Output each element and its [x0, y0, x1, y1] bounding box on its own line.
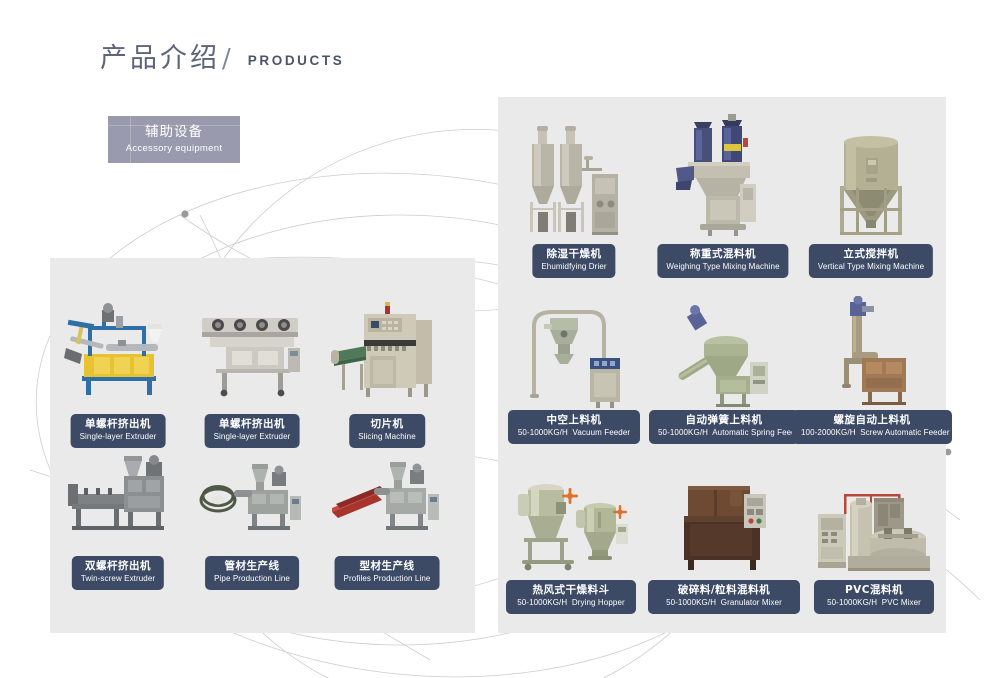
product-name-cn: 单螺杆挤出机: [214, 418, 291, 431]
product-name-en: Vertical Type Mixing Machine: [818, 262, 924, 272]
product-label[interactable]: 热风式干燥料斗 50-1000KG/H Drying Hopper: [506, 580, 636, 614]
product-single-layer-extruder-1[interactable]: 单螺杆挤出机 Single-layer Extruder: [62, 296, 174, 446]
product-label[interactable]: 管材生产线 Pipe Production Line: [205, 556, 299, 590]
product-label[interactable]: 中空上料机 50-1000KG/H Vacuum Feeder: [508, 410, 640, 444]
product-name-en: 50-1000KG/H Granulator Mixer: [657, 598, 791, 608]
title-separator: /: [222, 44, 231, 74]
category-tag-accessory-equipment: 辅助设备 Accessory equipment: [108, 116, 240, 163]
product-name-en: Pipe Production Line: [214, 574, 290, 584]
product-name-en-text: Vacuum Feeder: [573, 428, 631, 437]
product-profiles-production-line[interactable]: 型材生产线 Profiles Production Line: [330, 438, 444, 588]
product-dehumidifying-drier[interactable]: 除湿干燥机 Ehumidfying Drier: [520, 122, 628, 272]
product-label[interactable]: 型材生产线 Profiles Production Line: [335, 556, 440, 590]
product-label[interactable]: 破碎料/粒料混料机 50-1000KG/H Granulator Mixer: [648, 580, 800, 614]
red-profiles-production-line-image: [330, 438, 444, 546]
product-pipe-production-line[interactable]: 管材生产线 Pipe Production Line: [196, 438, 308, 588]
twin-hopper-dehumidifying-drier-with-cabinet-image: [520, 122, 628, 240]
product-label[interactable]: 除湿干燥机 Ehumidfying Drier: [532, 244, 615, 278]
product-name-cn: 中空上料机: [517, 414, 631, 427]
product-name-en-text: Automatic Spring Feeder: [712, 428, 803, 437]
product-name-en: Ehumidfying Drier: [541, 262, 606, 272]
page-header: 产品介绍 / PRODUCTS: [100, 44, 344, 74]
product-name-en: Weighing Type Mixing Machine: [666, 262, 779, 272]
product-name-en: Twin-screw Extruder: [81, 574, 155, 584]
automatic-spring-feeder-inclined-tube-image: [668, 300, 780, 410]
product-name-en-text: PVC Mixer: [882, 598, 921, 607]
product-name-cn: PVC混料机: [823, 584, 925, 597]
page-title-cn: 产品介绍: [100, 45, 220, 72]
product-name-cn: 热风式干燥料斗: [515, 584, 627, 597]
blue-yellow-single-screw-extruder-line-image: [62, 296, 174, 404]
vacuum-feeder-with-control-cabinet-image: [518, 300, 630, 410]
product-slicing-machine[interactable]: 切片机 Slicing Machine: [330, 296, 444, 446]
product-capacity: 50-1000KG/H: [658, 428, 708, 437]
beige-slicing-machine-with-green-conveyor-image: [330, 296, 444, 404]
product-name-en-text: Granulator Mixer: [721, 598, 782, 607]
product-screw-automatic-feeder[interactable]: 螺旋自动上料机 100-2000KG/H Screw Automatic Fee…: [818, 296, 926, 440]
product-label[interactable]: 自动弹簧上料机 50-1000KG/H Automatic Spring Fee…: [649, 410, 799, 444]
product-capacity: 50-1000KG/H: [517, 598, 567, 607]
product-name-cn: 螺旋自动上料机: [801, 414, 943, 427]
product-label[interactable]: 螺旋自动上料机 100-2000KG/H Screw Automatic Fee…: [792, 410, 952, 444]
product-name-cn: 称重式混料机: [666, 248, 779, 261]
product-label[interactable]: 称重式混料机 Weighing Type Mixing Machine: [657, 244, 788, 278]
product-name-cn: 管材生产线: [214, 560, 290, 573]
product-weighing-type-mixing-machine[interactable]: 称重式混料机 Weighing Type Mixing Machine: [668, 110, 778, 272]
product-drying-hopper[interactable]: 热风式干燥料斗 50-1000KG/H Drying Hopper: [512, 468, 630, 608]
product-name-cn: 切片机: [358, 418, 416, 431]
page-title-en: PRODUCTS: [248, 53, 345, 68]
category-name-cn: 辅助设备: [145, 125, 203, 141]
dark-brown-granulator-mixer-image: [668, 472, 780, 578]
roller-calender-extruder-line-image: [196, 296, 308, 404]
category-name-en: Accessory equipment: [126, 143, 223, 154]
product-name-en-text: Screw Automatic Feeder: [860, 428, 949, 437]
pipe-production-line-with-coiled-pipe-image: [196, 438, 308, 546]
product-name-cn: 型材生产线: [344, 560, 431, 573]
product-name-en-text: Drying Hopper: [572, 598, 625, 607]
pvc-mixer-unit-with-control-panel-image: [812, 472, 936, 578]
product-name-en: 50-1000KG/H Automatic Spring Feeder: [658, 428, 790, 438]
product-label[interactable]: PVC混料机 50-1000KG/H PVC Mixer: [814, 580, 934, 614]
grey-twin-screw-extruder-image: [62, 438, 174, 546]
product-capacity: 50-1000KG/H: [518, 428, 568, 437]
product-twin-screw-extruder[interactable]: 双螺杆挤出机 Twin-screw Extruder: [62, 438, 174, 588]
product-name-en: Profiles Production Line: [344, 574, 431, 584]
product-name-cn: 双螺杆挤出机: [81, 560, 155, 573]
product-catalog-page: 产品介绍 / PRODUCTS 辅助设备 Accessory equipment: [0, 0, 1000, 678]
screw-automatic-feeder-vertical-column-image: [818, 296, 926, 410]
product-capacity: 50-1000KG/H: [827, 598, 877, 607]
product-name-cn: 自动弹簧上料机: [658, 414, 790, 427]
product-name-en: 50-1000KG/H PVC Mixer: [823, 598, 925, 608]
product-granulator-mixer[interactable]: 破碎料/粒料混料机 50-1000KG/H Granulator Mixer: [668, 472, 780, 608]
product-name-cn: 立式搅拌机: [818, 248, 924, 261]
product-capacity: 100-2000KG/H: [801, 428, 856, 437]
product-label[interactable]: 立式搅拌机 Vertical Type Mixing Machine: [809, 244, 933, 278]
product-pvc-mixer[interactable]: PVC混料机 50-1000KG/H PVC Mixer: [812, 472, 936, 608]
product-automatic-spring-feeder[interactable]: 自动弹簧上料机 50-1000KG/H Automatic Spring Fee…: [668, 300, 780, 440]
product-name-cn: 单螺杆挤出机: [80, 418, 157, 431]
product-capacity: 50-1000KG/H: [666, 598, 716, 607]
product-vacuum-feeder[interactable]: 中空上料机 50-1000KG/H Vacuum Feeder: [518, 300, 630, 440]
weighing-type-mixing-machine-blue-motors-image: [668, 110, 778, 240]
hot-air-drying-hopper-pair-image: [512, 468, 630, 580]
product-name-cn: 破碎料/粒料混料机: [657, 584, 791, 597]
vertical-tank-mixer-on-legs-image: [818, 122, 924, 240]
product-name-en: 50-1000KG/H Vacuum Feeder: [517, 428, 631, 438]
product-name-cn: 除湿干燥机: [541, 248, 606, 261]
product-single-layer-extruder-2[interactable]: 单螺杆挤出机 Single-layer Extruder: [196, 296, 308, 446]
product-name-en: 50-1000KG/H Drying Hopper: [515, 598, 627, 608]
product-label[interactable]: 双螺杆挤出机 Twin-screw Extruder: [72, 556, 164, 590]
product-vertical-type-mixing-machine[interactable]: 立式搅拌机 Vertical Type Mixing Machine: [818, 122, 924, 272]
product-name-en: 100-2000KG/H Screw Automatic Feeder: [801, 428, 943, 438]
